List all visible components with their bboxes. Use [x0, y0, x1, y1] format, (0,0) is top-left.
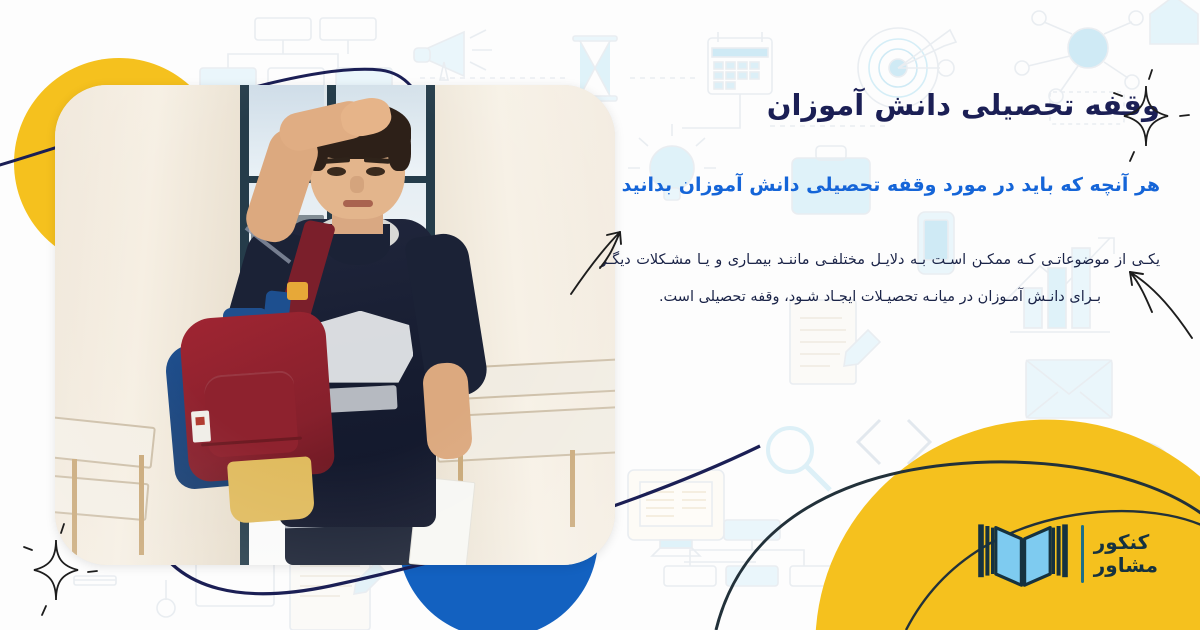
logo-divider	[1081, 525, 1084, 583]
body-paragraph: یکـی از موضوعاتـی کـه ممکـن اسـت بـه دلا…	[600, 242, 1160, 316]
yellow-logo-wedge	[790, 393, 1200, 630]
hero-photo	[55, 85, 615, 565]
banner-canvas: وقفه تحصیلی دانش آموزان هر آنچه که باید …	[0, 0, 1200, 630]
logo-wordmark: کنکور مشاور	[1094, 531, 1158, 577]
open-book-icon	[975, 518, 1071, 590]
brand-logo[interactable]: کنکور مشاور	[975, 518, 1158, 590]
text-column: وقفه تحصیلی دانش آموزان هر آنچه که باید …	[600, 86, 1160, 316]
logo-line-1: کنکور	[1094, 531, 1149, 554]
page-subtitle: هر آنچه که باید در مورد وقفه تحصیلی دانش…	[600, 171, 1160, 200]
page-title: وقفه تحصیلی دانش آموزان	[600, 86, 1160, 125]
logo-line-2: مشاور	[1094, 554, 1158, 577]
